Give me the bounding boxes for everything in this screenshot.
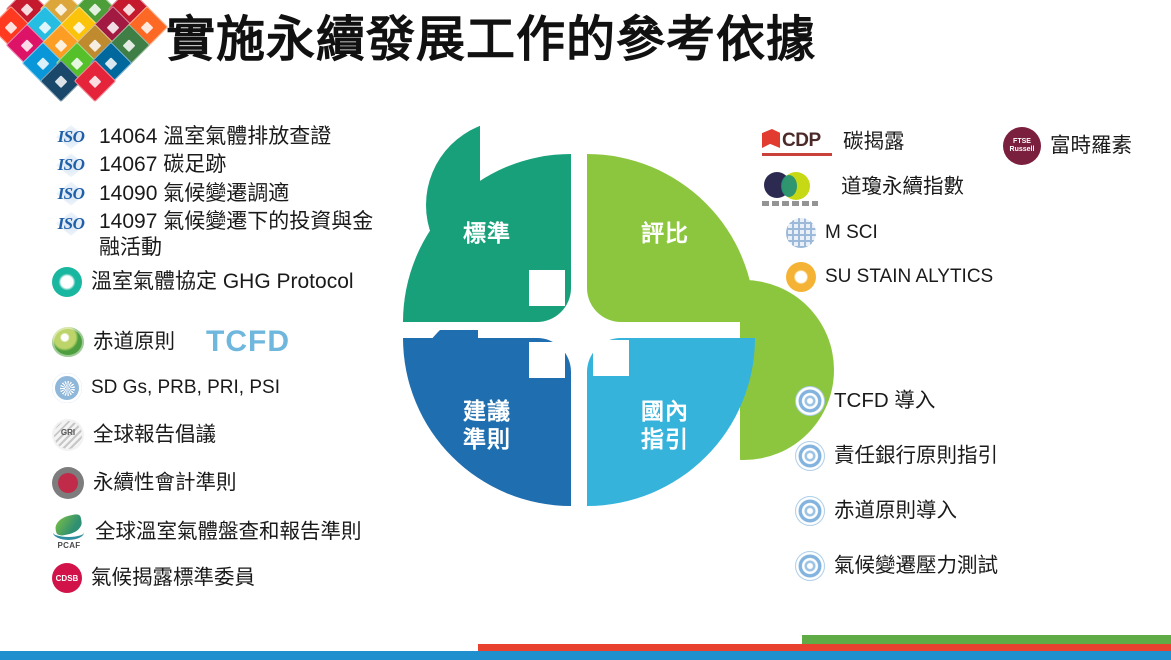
quadrant-wheel-diagram: 標準 評比 建議 準則 國內 指引 [403, 154, 755, 506]
list-item-label: M SCI [825, 221, 878, 245]
list-item[interactable]: ISO 14064 溫室氣體排放查證 [52, 124, 472, 150]
list-item[interactable]: PCAF 全球溫室氣體盤查和報告準則 [52, 515, 472, 549]
iso-logo-icon: ISO [52, 124, 90, 150]
list-item-label: SD Gs, PRB, PRI, PSI [91, 376, 280, 400]
list-item[interactable]: 氣候變遷壓力測試 [795, 551, 1171, 581]
wheel-white-square [593, 340, 629, 376]
iso-logo-icon: ISO [52, 152, 90, 178]
cdsb-icon: CDSB [52, 563, 82, 593]
wheel-white-square [529, 342, 565, 378]
page-title: 實施永續發展工作的參考依據 [166, 14, 816, 68]
equator-globe-icon [52, 327, 84, 357]
list-item-label: 14064 溫室氣體排放查證 [99, 124, 331, 150]
ftse-russell-item[interactable]: FTSE Russell 富時羅素 [1003, 127, 1132, 165]
list-item-label: 溫室氣體協定 GHG Protocol [91, 269, 354, 295]
list-item-label-cont: 融活動 [99, 236, 162, 259]
iso-logo-icon: ISO [52, 181, 90, 207]
list-item-label: 赤道原則導入 [834, 498, 957, 524]
list-item[interactable]: 赤道原則導入 [795, 496, 1171, 526]
list-item-label: 全球報告倡議 [93, 422, 216, 448]
wheel-white-square [529, 270, 565, 306]
list-item-label: 14090 氣候變遷調適 [99, 181, 289, 207]
iso-logo-icon: ISO [52, 211, 90, 237]
msci-logo-icon [786, 218, 816, 248]
footer-bar-green [802, 635, 1171, 644]
target-icon [795, 441, 825, 471]
list-item-label-wrap: 14097 氣候變遷下的投資與金 融活動 [99, 209, 373, 262]
list-item-label: SU STAIN ALYTICS [825, 265, 993, 289]
cdp-logo-icon: CDP [762, 128, 834, 156]
right-column-bottom: TCFD 導入 責任銀行原則指引 赤道原則導入 氣候變遷壓力測試 [795, 386, 1171, 581]
list-item-label: 碳揭露 [843, 129, 905, 155]
list-item-label: 氣候揭露標準委員 [91, 565, 255, 591]
list-item-label: 14097 氣候變遷下的投資與金 [99, 210, 373, 233]
list-item[interactable]: M SCI [786, 218, 1167, 248]
ftse-russell-logo-icon: FTSE Russell [1003, 127, 1041, 165]
ftse-russell-label: 富時羅素 [1050, 133, 1132, 159]
list-item[interactable]: TCFD 導入 [795, 386, 1171, 416]
list-item-label: 全球溫室氣體盤查和報告準則 [95, 519, 362, 545]
tcfd-logo: TCFD [206, 325, 290, 359]
sustainalytics-logo-icon [786, 262, 816, 292]
djsi-logo-icon [762, 170, 818, 204]
sdg-wheel-logo [0, 0, 166, 112]
list-item-label: 14067 碳足跡 [99, 152, 226, 178]
gri-icon: GRI [52, 419, 84, 451]
list-item[interactable]: SU STAIN ALYTICS [786, 262, 1167, 292]
list-item-label: 氣候變遷壓力測試 [834, 553, 998, 579]
sasb-icon [52, 467, 84, 499]
target-icon [795, 386, 825, 416]
footer-bar-blue [0, 651, 1171, 660]
list-item-label: 赤道原則 [93, 329, 175, 355]
target-icon [795, 496, 825, 526]
list-item-label: TCFD 導入 [834, 388, 935, 414]
ghg-ring-icon [52, 267, 82, 297]
pcaf-icon: PCAF [52, 515, 86, 549]
wheel-label-domestic: 國內 指引 [617, 398, 713, 453]
slide-canvas: 實施永續發展工作的參考依據 ISO 14064 溫室氣體排放查證 ISO 140… [0, 0, 1171, 660]
list-item-label: 責任銀行原則指引 [834, 443, 998, 469]
target-icon [795, 551, 825, 581]
wheel-label-rating: 評比 [617, 220, 713, 248]
list-item-label: 道瓊永續指數 [841, 174, 964, 200]
wheel-label-standard: 標準 [439, 220, 535, 248]
un-globe-icon [52, 373, 82, 403]
list-item-label: 永續性會計準則 [93, 470, 237, 496]
wheel-label-guideline: 建議 準則 [439, 398, 535, 453]
list-item[interactable]: CDSB 氣候揭露標準委員 [52, 563, 472, 593]
list-item[interactable]: 責任銀行原則指引 [795, 441, 1171, 471]
list-item[interactable]: 道瓊永續指數 [762, 170, 1167, 204]
